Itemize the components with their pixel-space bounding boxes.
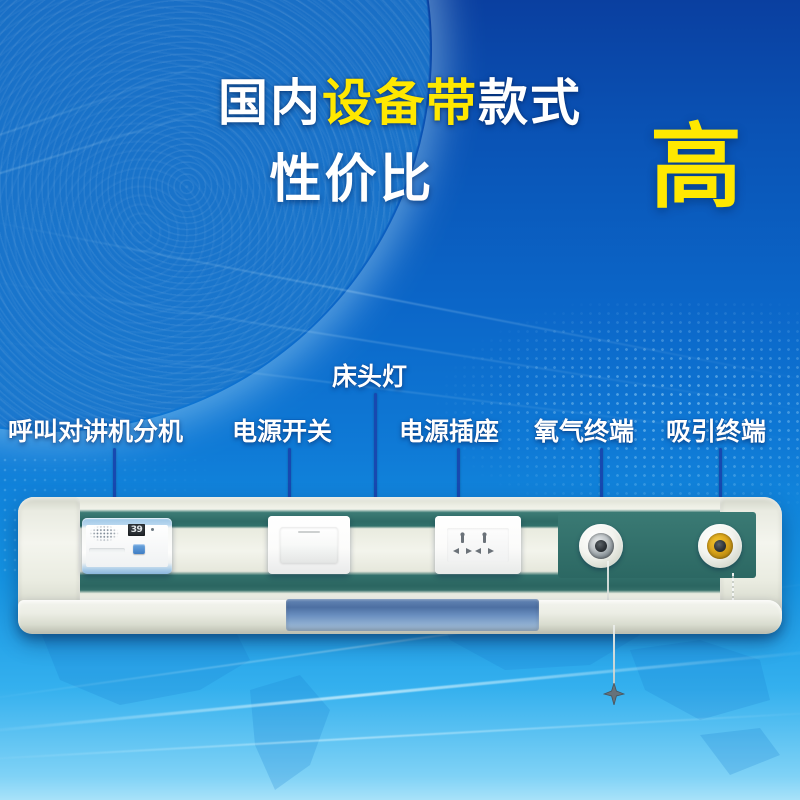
callout-power-switch: 电源开关 bbox=[232, 412, 332, 448]
power-switch-device[interactable] bbox=[268, 516, 350, 574]
nurse-call-button[interactable] bbox=[133, 544, 145, 554]
pull-cord[interactable] bbox=[613, 625, 615, 689]
suction-outlet-port bbox=[714, 540, 726, 552]
socket-faceplate bbox=[447, 528, 509, 562]
bed-lamp-diffuser[interactable] bbox=[286, 599, 539, 631]
oxygen-outlet-core-icon bbox=[588, 533, 614, 559]
callout-group: 呼叫对讲机分机 电源开关 床头灯 电源插座 氧气终端 吸引终端 bbox=[0, 0, 800, 800]
oxygen-outlet-port bbox=[595, 540, 607, 552]
nurse-call-display: 39 bbox=[128, 524, 145, 536]
callout-power-socket: 电源插座 bbox=[399, 412, 499, 448]
callout-oxygen-terminal: 氧气终端 bbox=[534, 412, 634, 448]
oxygen-terminal-device[interactable] bbox=[579, 524, 623, 568]
nurse-call-label-slot bbox=[89, 548, 125, 553]
promo-poster: 国内设备带款式 性价比 高 呼叫对讲机分机 电源开关 床头灯 电源插座 氧气终端… bbox=[0, 0, 800, 800]
cord-weight-cross-icon bbox=[603, 683, 625, 705]
power-socket-device[interactable] bbox=[435, 516, 521, 574]
callout-nurse-call-intercom: 呼叫对讲机分机 bbox=[8, 412, 183, 448]
hospital-bedhead-unit: 39 bbox=[18, 497, 782, 632]
status-led-icon bbox=[151, 528, 154, 531]
rocker-switch-icon[interactable] bbox=[280, 527, 338, 563]
suction-outlet-core-icon bbox=[707, 533, 733, 559]
callout-suction-terminal: 吸引终端 bbox=[666, 412, 766, 448]
suction-terminal-device[interactable] bbox=[698, 524, 742, 568]
nurse-call-intercom-device[interactable]: 39 bbox=[82, 518, 172, 574]
speaker-grille-icon bbox=[89, 525, 119, 542]
callout-bed-lamp: 床头灯 bbox=[332, 357, 407, 393]
socket-pin-holes-icon bbox=[447, 528, 509, 562]
